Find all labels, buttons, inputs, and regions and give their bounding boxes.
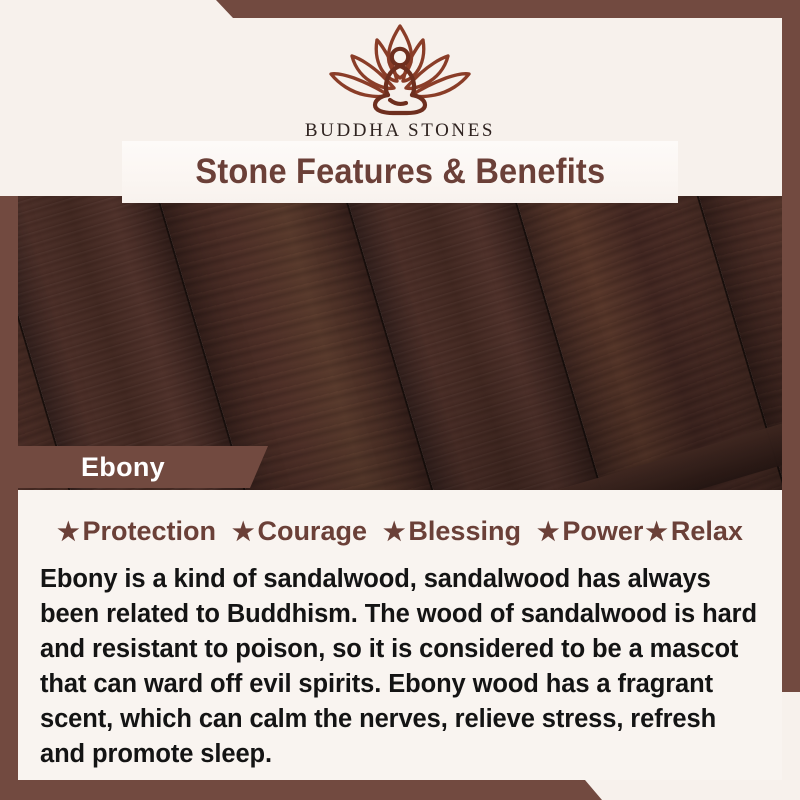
benefit-item: ★Relax	[645, 516, 742, 547]
star-icon: ★	[57, 518, 79, 546]
description-text: Ebony is a kind of sandalwood, sandalwoo…	[40, 562, 766, 772]
product-photo	[18, 196, 782, 490]
benefit-item: ★Blessing	[383, 516, 521, 547]
benefit-label: Power	[562, 516, 643, 546]
benefit-item: ★Protection	[57, 516, 216, 547]
wood-plank-group	[18, 196, 782, 490]
star-icon: ★	[645, 518, 667, 546]
frame-bottom-bar	[0, 780, 800, 800]
benefit-label: Courage	[257, 516, 367, 546]
benefit-label: Protection	[83, 516, 217, 546]
product-name-banner: Ebony	[18, 446, 268, 488]
frame-left-notch	[0, 0, 18, 196]
title-banner: Stone Features & Benefits	[122, 141, 678, 203]
content-panel: ★Protection★Courage★Blessing★Power★Relax…	[18, 490, 782, 780]
star-icon: ★	[537, 518, 559, 546]
brand-logo: BUDDHA STONES	[0, 18, 800, 142]
frame-right-bar	[782, 0, 800, 800]
benefit-label: Relax	[671, 516, 743, 546]
benefit-item: ★Power	[537, 516, 643, 547]
benefit-item: ★Courage	[232, 516, 367, 547]
product-name-label: Ebony	[81, 452, 165, 483]
brand-name: BUDDHA STONES	[0, 120, 800, 142]
stone-features-poster: BUDDHA STONES Stone Features & Benefits …	[0, 0, 800, 800]
lotus-meditation-figure-icon	[305, 18, 495, 118]
frame-right-notch	[782, 692, 800, 800]
brand-header: BUDDHA STONES	[0, 0, 800, 146]
benefit-label: Blessing	[408, 516, 521, 546]
star-icon: ★	[232, 518, 254, 546]
benefits-list: ★Protection★Courage★Blessing★Power★Relax	[18, 516, 782, 547]
star-icon: ★	[383, 518, 405, 546]
page-title: Stone Features & Benefits	[195, 152, 605, 192]
